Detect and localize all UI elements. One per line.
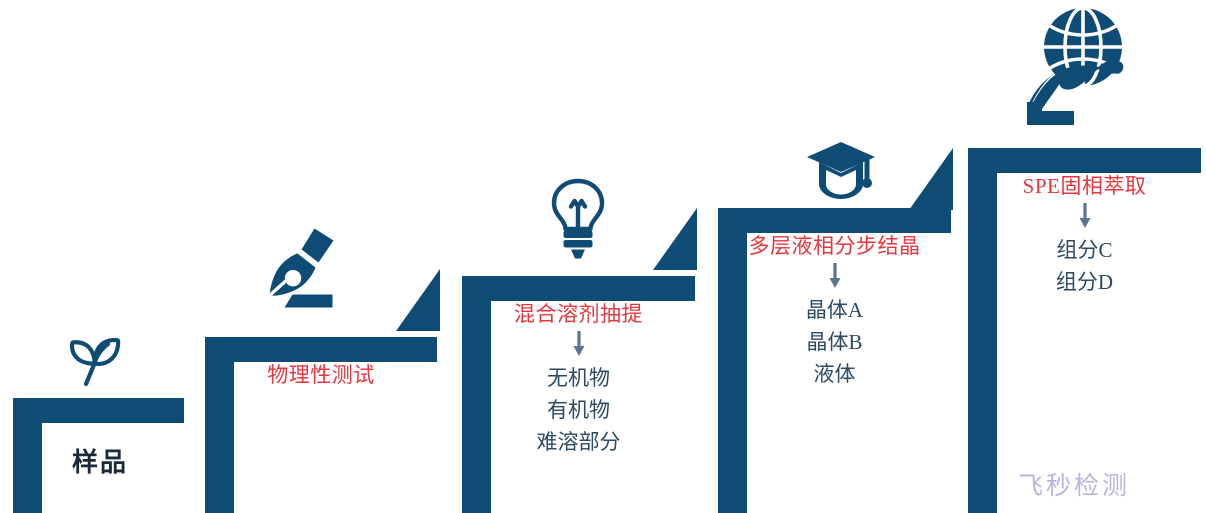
step-4-triangle xyxy=(909,148,953,210)
step-1-caption: 样品 xyxy=(72,442,128,479)
infographic-canvas: 样品 物理性测试 xyxy=(0,0,1206,513)
leaf-icon xyxy=(63,334,127,396)
step-5-item-2: 组分D xyxy=(968,272,1201,293)
step-3-triangle xyxy=(653,208,697,270)
step-3-item-2: 有机物 xyxy=(462,400,695,421)
step-2-title: 物理性测试 xyxy=(205,365,437,386)
step-3-item-3: 难溶部分 xyxy=(462,432,695,453)
step-3-tread xyxy=(462,276,695,301)
step-4-item-3: 液体 xyxy=(718,364,951,385)
watermark-label: 飞秒检测 xyxy=(1018,466,1130,502)
fountain-pen-icon xyxy=(262,226,340,310)
step-4-item-1: 晶体A xyxy=(718,300,951,321)
graduation-cap-icon xyxy=(805,140,877,202)
globe-in-hand-icon xyxy=(1022,5,1134,127)
step-4-text-block: 多层液相分步结晶 晶体A 晶体B 液体 xyxy=(718,236,951,385)
step-5-tread xyxy=(968,148,1201,173)
arrow-down-icon xyxy=(828,263,842,289)
step-2-riser xyxy=(205,337,234,513)
step-4-title: 多层液相分步结晶 xyxy=(718,236,951,257)
arrow-down-icon xyxy=(572,331,586,357)
lightbulb-icon xyxy=(546,177,610,261)
step-4-tread xyxy=(718,208,951,233)
step-5-item-1: 组分C xyxy=(968,240,1201,261)
step-5-text-block: SPE固相萃取 组分C 组分D xyxy=(968,176,1201,293)
step-5-title: SPE固相萃取 xyxy=(968,176,1201,197)
step-2-triangle xyxy=(396,269,440,331)
step-1-riser xyxy=(13,398,42,513)
step-3-item-1: 无机物 xyxy=(462,368,695,389)
step-2-tread xyxy=(205,337,437,362)
arrow-down-icon xyxy=(1078,203,1092,229)
step-3-text-block: 混合溶剂抽提 无机物 有机物 难溶部分 xyxy=(462,304,695,453)
step-2-text-block: 物理性测试 xyxy=(205,365,437,386)
step-3-title: 混合溶剂抽提 xyxy=(462,304,695,325)
step-4-item-2: 晶体B xyxy=(718,332,951,353)
